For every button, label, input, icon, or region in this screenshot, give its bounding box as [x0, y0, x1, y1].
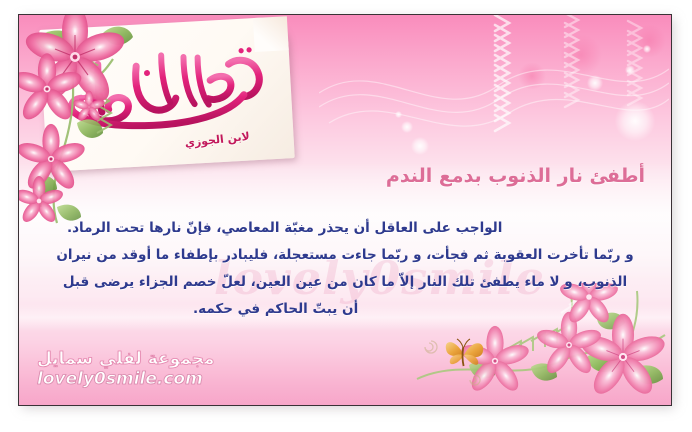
logo-plaque: لابن الجوزي	[39, 16, 295, 172]
feather-decoration	[623, 17, 661, 137]
screenshot-stage: lovely0smile	[0, 0, 692, 432]
bokeh-blob	[631, 25, 667, 57]
glow-dot	[625, 65, 635, 75]
bokeh-blob	[559, 35, 603, 75]
body-line: الذنوب، و لا ماء يطفئ تلك النار إلاّ ما …	[45, 269, 645, 296]
bokeh-blob	[517, 63, 547, 89]
butterfly-icon	[442, 337, 488, 375]
logo-script-title	[50, 29, 283, 145]
glow-dot	[587, 75, 603, 91]
brand-footer: مجموعة لفلي سمايل lovely0smile.com	[37, 349, 214, 389]
feather-decoration	[559, 14, 599, 139]
body-line: و ربّما تأخرت العقوبة ثم فجأت، و ربّما ج…	[45, 242, 645, 269]
feather-decoration	[489, 14, 529, 161]
body-line: أن يبتّ الحاكم في حكمه.	[45, 296, 645, 323]
glow-dot	[401, 121, 413, 133]
glow-dot	[395, 111, 402, 118]
greeting-card: lovely0smile	[18, 14, 672, 406]
glow-dot	[615, 101, 655, 141]
glow-dot	[411, 137, 429, 155]
glow-dot	[643, 45, 651, 53]
brand-website[interactable]: lovely0smile.com	[37, 369, 214, 389]
body-text: الواجب على العاقل أن يحذر مغبّة المعاصي،…	[45, 215, 645, 323]
brand-arabic-name: مجموعة لفلي سمايل	[37, 349, 214, 369]
body-line: الواجب على العاقل أن يحذر مغبّة المعاصي،…	[45, 215, 645, 242]
page-title: أطفئ نار الذنوب بدمع الندم	[386, 165, 645, 187]
wave-line-decoration	[319, 33, 669, 147]
logo-author: لابن الجوزي	[184, 130, 250, 150]
